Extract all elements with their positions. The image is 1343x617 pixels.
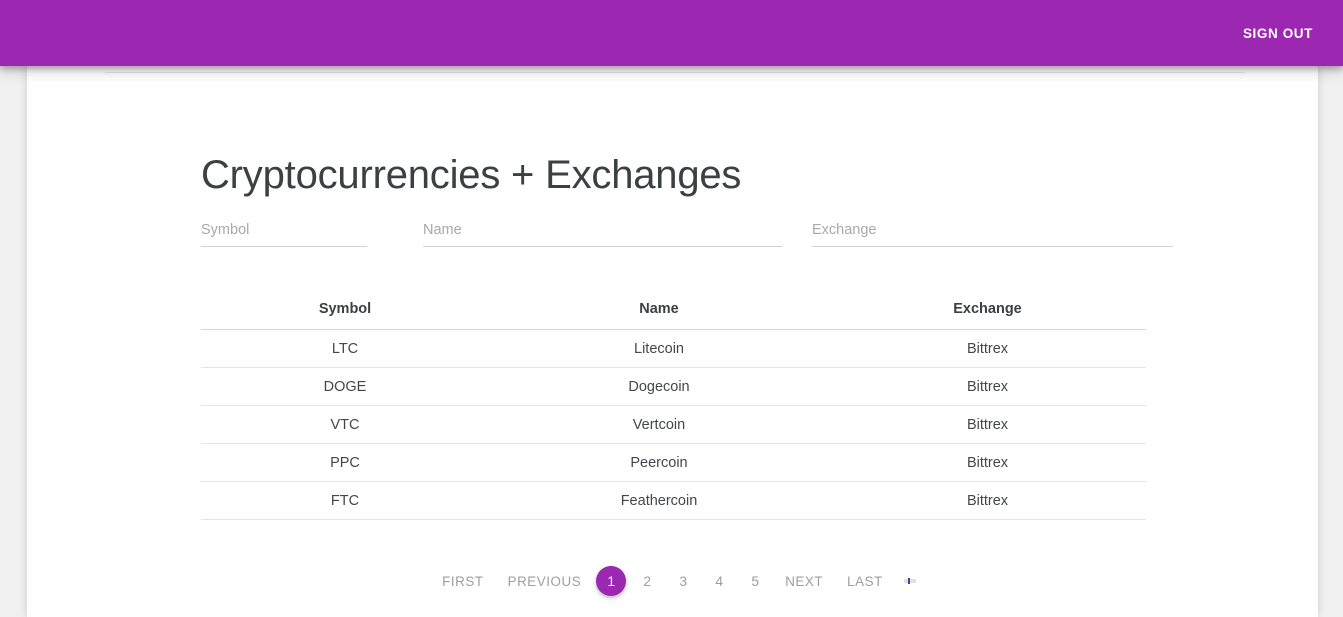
page-background-right <box>1318 66 1343 617</box>
card-top-divider <box>105 72 1245 73</box>
cell-name: Litecoin <box>489 330 829 368</box>
table-row[interactable]: FTC Feathercoin Bittrex <box>201 482 1146 520</box>
cell-symbol: DOGE <box>201 368 489 406</box>
app-root: SIGN OUT Cryptocurrencies + Exchanges <box>0 0 1343 617</box>
table-row[interactable]: LTC Litecoin Bittrex <box>201 330 1146 368</box>
table-body: LTC Litecoin Bittrex DOGE Dogecoin Bittr… <box>201 330 1146 520</box>
table-header-row: Symbol Name Exchange <box>201 301 1146 330</box>
table-row[interactable]: PPC Peercoin Bittrex <box>201 444 1146 482</box>
cell-exchange: Bittrex <box>829 482 1146 520</box>
pagination-page-2[interactable]: 2 <box>629 566 665 596</box>
sign-out-button[interactable]: SIGN OUT <box>1215 0 1343 66</box>
cell-exchange: Bittrex <box>829 330 1146 368</box>
cell-symbol: PPC <box>201 444 489 482</box>
cell-exchange: Bittrex <box>829 444 1146 482</box>
pagination-previous-button[interactable]: PREVIOUS <box>496 566 594 596</box>
app-header-bar: SIGN OUT <box>0 0 1343 66</box>
filter-field-exchange <box>812 217 1173 255</box>
pagination-page-3[interactable]: 3 <box>665 566 701 596</box>
cell-name: Peercoin <box>489 444 829 482</box>
filter-bar <box>201 217 1146 257</box>
exchange-input[interactable] <box>812 217 1173 247</box>
column-header-symbol[interactable]: Symbol <box>201 301 489 330</box>
pagination-first-button[interactable]: FIRST <box>430 566 495 596</box>
content-card: Cryptocurrencies + Exchanges <box>27 66 1318 617</box>
pagination-page-4[interactable]: 4 <box>701 566 737 596</box>
cell-name: Dogecoin <box>489 368 829 406</box>
text-cursor-icon <box>903 566 917 596</box>
filter-field-symbol <box>201 217 367 255</box>
cell-symbol: LTC <box>201 330 489 368</box>
pagination-page-5[interactable]: 5 <box>737 566 773 596</box>
cell-name: Feathercoin <box>489 482 829 520</box>
page-title: Cryptocurrencies + Exchanges <box>201 155 741 195</box>
table-row[interactable]: DOGE Dogecoin Bittrex <box>201 368 1146 406</box>
cell-exchange: Bittrex <box>829 368 1146 406</box>
pagination-page-1[interactable]: 1 <box>596 566 626 596</box>
table-row[interactable]: VTC Vertcoin Bittrex <box>201 406 1146 444</box>
column-header-exchange[interactable]: Exchange <box>829 301 1146 330</box>
cell-exchange: Bittrex <box>829 406 1146 444</box>
pagination-last-button[interactable]: LAST <box>835 566 895 596</box>
symbol-input[interactable] <box>201 217 367 247</box>
name-input[interactable] <box>423 217 782 247</box>
pagination: FIRST PREVIOUS 1 2 3 4 5 NEXT LAST <box>201 558 1146 604</box>
results-table: Symbol Name Exchange LTC Litecoin Bittre… <box>201 301 1146 520</box>
page-background-left <box>0 66 27 617</box>
results-table-container: Symbol Name Exchange LTC Litecoin Bittre… <box>201 301 1146 520</box>
cell-symbol: VTC <box>201 406 489 444</box>
cell-symbol: FTC <box>201 482 489 520</box>
table-head: Symbol Name Exchange <box>201 301 1146 330</box>
cell-name: Vertcoin <box>489 406 829 444</box>
column-header-name[interactable]: Name <box>489 301 829 330</box>
pagination-next-button[interactable]: NEXT <box>773 566 835 596</box>
filter-field-name <box>423 217 782 255</box>
